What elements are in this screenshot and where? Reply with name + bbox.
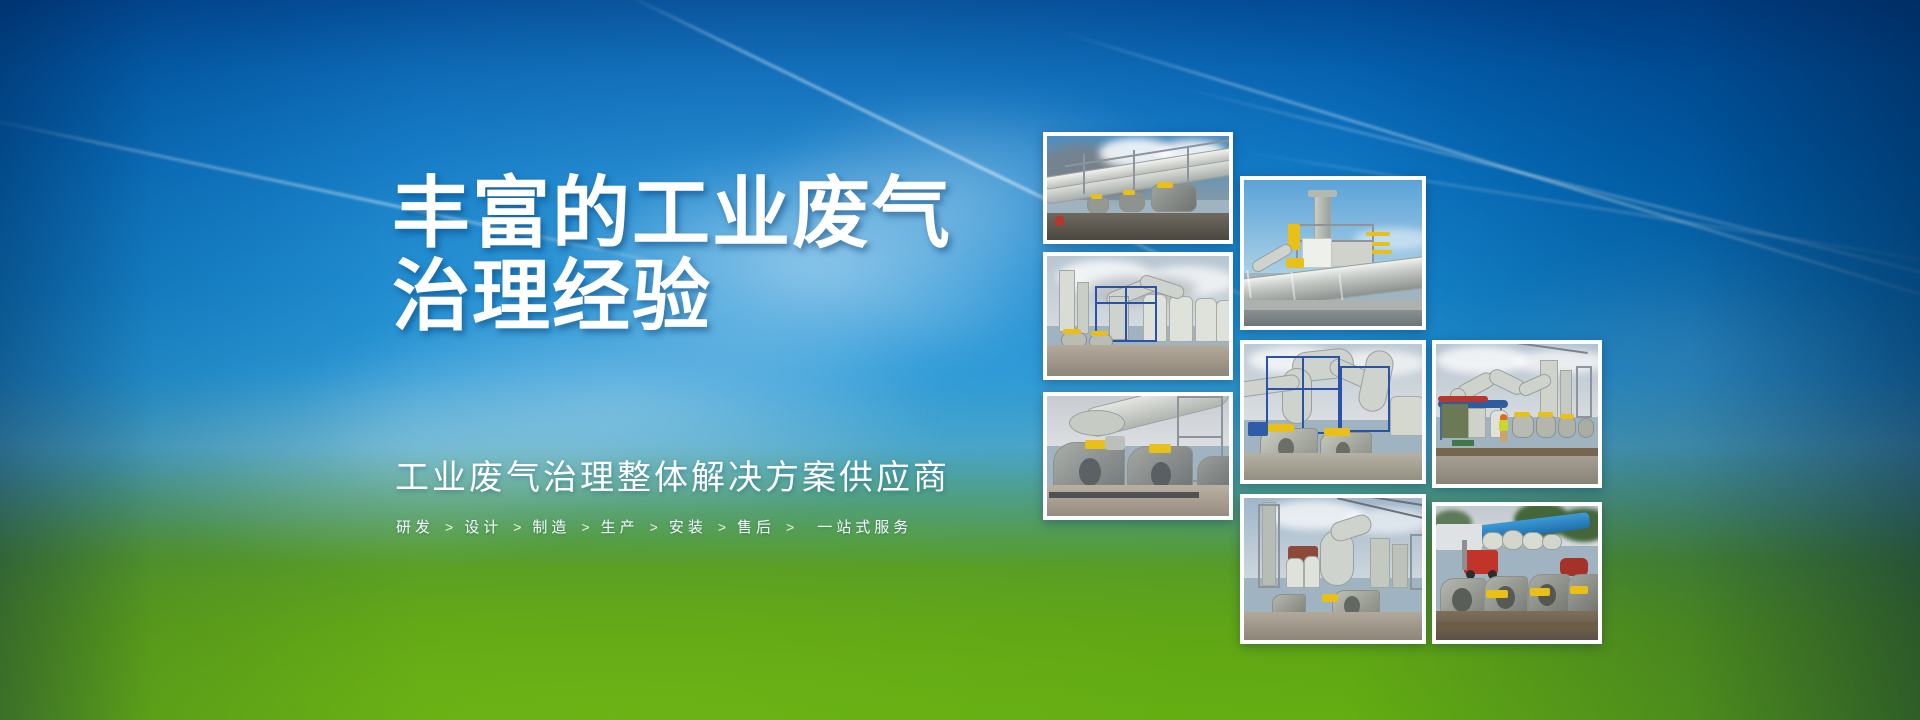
photo-image — [1244, 344, 1422, 480]
breadcrumb-item-manufacture[interactable]: 制造 — [532, 516, 570, 537]
hero-banner: 丰富的工业废气 治理经验 工业废气治理整体解决方案供应商 研发 > 设计 > 制… — [0, 0, 1920, 720]
photo-image — [1244, 180, 1422, 326]
photo-image — [1436, 506, 1598, 640]
breadcrumb: 研发 > 设计 > 制造 > 生产 > 安装 > 售后 > 一站式服务 — [396, 516, 912, 537]
breadcrumb-separator-icon: > — [513, 519, 521, 535]
hero-text-block: 丰富的工业废气 治理经验 工业废气治理整体解决方案供应商 研发 > 设计 > 制… — [392, 172, 1012, 337]
collage-photo-centrifugal-fan-pair[interactable] — [1043, 392, 1233, 520]
breadcrumb-separator-icon: > — [786, 519, 794, 535]
collage-photo-blue-frame-duct-line[interactable] — [1240, 340, 1426, 484]
breadcrumb-item-rd[interactable]: 研发 — [396, 516, 434, 537]
breadcrumb-item-production[interactable]: 生产 — [601, 516, 639, 537]
breadcrumb-item-installation[interactable]: 安装 — [669, 516, 707, 537]
collage-photo-tall-scrubber-plant[interactable] — [1240, 494, 1426, 644]
collage-photo-rto-incinerator-pipeline[interactable] — [1240, 176, 1426, 330]
collage-photo-ducting-rooftop-pipeline[interactable] — [1043, 132, 1233, 244]
collage-photo-worker-inspection-row[interactable] — [1432, 340, 1602, 488]
photo-image — [1244, 498, 1422, 640]
breadcrumb-separator-icon: > — [445, 519, 453, 535]
photo-image — [1047, 136, 1229, 240]
breadcrumb-separator-icon: > — [718, 519, 726, 535]
collage-photo-scrubber-tank-array[interactable] — [1043, 252, 1233, 380]
breadcrumb-separator-icon: > — [581, 519, 589, 535]
hero-subtitle: 工业废气治理整体解决方案供应商 — [395, 450, 950, 499]
edge-vignette — [0, 0, 1920, 720]
breadcrumb-item-aftersales[interactable]: 售后 — [737, 516, 775, 537]
page-title: 丰富的工业废气 治理经验 — [392, 172, 1012, 337]
breadcrumb-item-onestop[interactable]: 一站式服务 — [817, 516, 912, 537]
collage-photo-fan-units-yard-forklift[interactable] — [1432, 502, 1602, 644]
photo-image — [1436, 344, 1598, 484]
photo-image — [1047, 256, 1229, 376]
photo-image — [1047, 396, 1229, 516]
breadcrumb-item-design[interactable]: 设计 — [464, 516, 502, 537]
breadcrumb-separator-icon: > — [650, 519, 658, 535]
